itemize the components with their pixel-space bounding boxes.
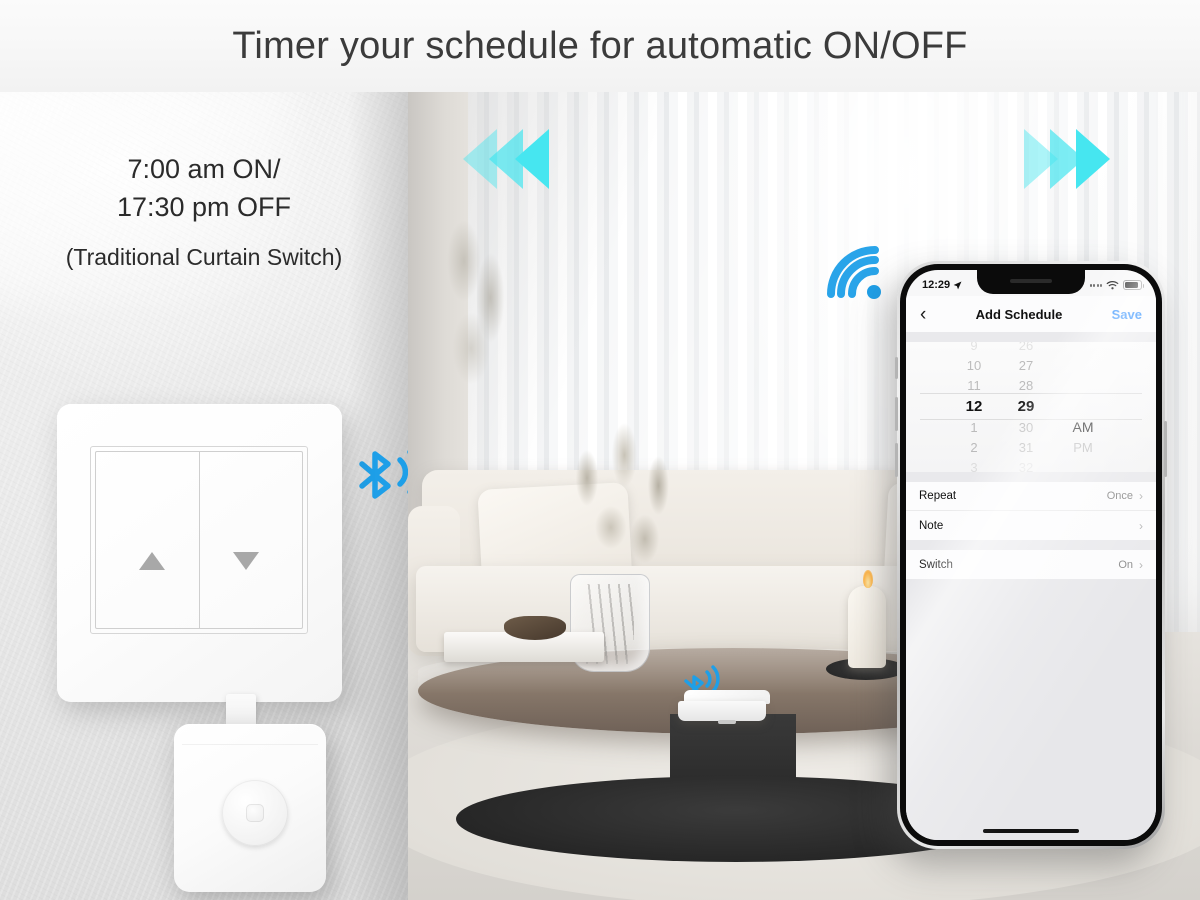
row-note[interactable]: Note ›: [906, 511, 1156, 540]
minute-option[interactable]: 31: [1019, 438, 1033, 458]
hour-option[interactable]: 3: [970, 458, 977, 472]
section-gap: [906, 472, 1156, 482]
hour-option[interactable]: 2: [970, 438, 977, 458]
actuator-seam: [182, 744, 318, 745]
hub-led-indicator: [718, 720, 736, 724]
section-gap: [906, 540, 1156, 550]
row-label: Switch: [919, 559, 953, 571]
schedule-on-text: 7:00 am ON/: [0, 150, 408, 188]
round-press-button-icon[interactable]: [222, 780, 288, 846]
picker-selection-line: [920, 419, 1142, 420]
time-picker[interactable]: 9 10 11 12 1 2 3 26 27 28: [906, 342, 1156, 472]
phone-bezel: 12:29: [900, 264, 1162, 846]
volume-down-button[interactable]: [895, 443, 898, 477]
chevron-right-icon: ›: [1139, 558, 1143, 572]
hour-option[interactable]: 1: [970, 418, 977, 438]
chevron-left-triple-icon: [463, 129, 549, 189]
page-header: Timer your schedule for automatic ON/OFF: [0, 0, 1200, 92]
location-arrow-icon: [953, 281, 962, 290]
bluetooth-signal-icon: [348, 440, 408, 512]
empty-content-area: [906, 579, 1156, 840]
candle: [848, 586, 886, 668]
schedule-caption-block: 7:00 am ON/ 17:30 pm OFF (Traditional Cu…: [0, 150, 408, 274]
smartphone: 12:29: [897, 261, 1165, 849]
minute-selected[interactable]: 29: [1018, 396, 1035, 418]
signal-dots-icon: [1090, 284, 1103, 287]
left-panel-wall-switch: 7:00 am ON/ 17:30 pm OFF (Traditional Cu…: [0, 92, 408, 900]
wifi-icon: [823, 242, 887, 304]
minute-option[interactable]: 26: [1019, 342, 1033, 356]
minute-option[interactable]: 30: [1019, 418, 1033, 438]
status-bar-indicators: [1090, 280, 1143, 290]
actuator-button-center: [246, 804, 264, 822]
wall-curtain-switch[interactable]: [57, 404, 342, 702]
promo-page: Timer your schedule for automatic ON/OFF…: [0, 0, 1200, 900]
page-title: Timer your schedule for automatic ON/OFF: [232, 25, 967, 68]
smart-gateway-hub[interactable]: [678, 690, 770, 722]
switch-rocker-area[interactable]: [90, 446, 308, 634]
picker-selection-line: [920, 393, 1142, 394]
status-bar-time-group: 12:29: [922, 279, 962, 291]
hour-option[interactable]: 10: [967, 356, 981, 376]
volume-up-button[interactable]: [895, 397, 898, 431]
status-bar-time: 12:29: [922, 279, 950, 291]
row-repeat[interactable]: Repeat Once ›: [906, 482, 1156, 511]
chevron-right-icon: ›: [1139, 489, 1143, 503]
home-indicator[interactable]: [983, 829, 1079, 833]
minute-option[interactable]: 32: [1019, 458, 1033, 472]
battery-icon: [1123, 280, 1142, 290]
hub-front: [678, 701, 766, 721]
phone-screen: 12:29: [906, 270, 1156, 840]
triangle-up-icon[interactable]: [139, 552, 165, 570]
row-switch[interactable]: Switch On ›: [906, 550, 1156, 579]
meridiem-option[interactable]: PM: [1073, 438, 1093, 458]
settings-group-primary: Repeat Once › Note ›: [906, 482, 1156, 540]
row-value: Once: [1107, 490, 1133, 502]
hour-option[interactable]: 9: [970, 342, 977, 356]
row-value-group: Once ›: [1107, 489, 1143, 503]
nav-bar: ‹ Add Schedule Save: [906, 296, 1156, 332]
hour-picker-column[interactable]: 9 10 11 12 1 2 3: [948, 342, 1000, 472]
power-button[interactable]: [1164, 421, 1167, 477]
meridiem-picker-column[interactable]: . . . AM PM: [1052, 356, 1114, 458]
chevron-left-icon[interactable]: ‹: [920, 305, 926, 324]
dried-flowers: [536, 402, 706, 592]
candle-flame-icon: [863, 570, 873, 588]
switch-type-caption: (Traditional Curtain Switch): [0, 240, 408, 274]
settings-group-switch: Switch On ›: [906, 550, 1156, 579]
section-gap: [906, 332, 1156, 342]
rocker-divider: [199, 451, 200, 629]
row-label: Note: [919, 520, 943, 532]
minute-option[interactable]: 27: [1019, 356, 1033, 376]
chevron-right-icon: ›: [1139, 519, 1143, 533]
row-label: Repeat: [919, 490, 956, 502]
minute-picker-column[interactable]: 26 27 28 29 30 31 32: [1000, 342, 1052, 472]
content-area: 7:00 am ON/ 17:30 pm OFF (Traditional Cu…: [0, 92, 1200, 900]
right-panel-living-room: 12:29: [408, 92, 1200, 900]
save-button[interactable]: Save: [1112, 307, 1142, 322]
schedule-off-text: 17:30 pm OFF: [0, 188, 408, 226]
row-value-group: ›: [1133, 519, 1143, 533]
wifi-icon: [1106, 280, 1119, 290]
smart-switch-actuator[interactable]: [174, 724, 326, 892]
triangle-down-icon[interactable]: [233, 552, 259, 570]
row-value-group: On ›: [1118, 558, 1143, 572]
mute-switch[interactable]: [895, 357, 898, 379]
phone-notch: [977, 270, 1085, 294]
row-value: On: [1118, 559, 1133, 571]
decor-bowl: [504, 616, 566, 640]
dried-plant-left: [416, 192, 536, 422]
screen-title: Add Schedule: [976, 307, 1063, 322]
chevron-right-triple-icon: [1024, 129, 1110, 189]
earpiece-speaker: [1010, 279, 1052, 283]
hour-selected[interactable]: 12: [966, 396, 983, 418]
